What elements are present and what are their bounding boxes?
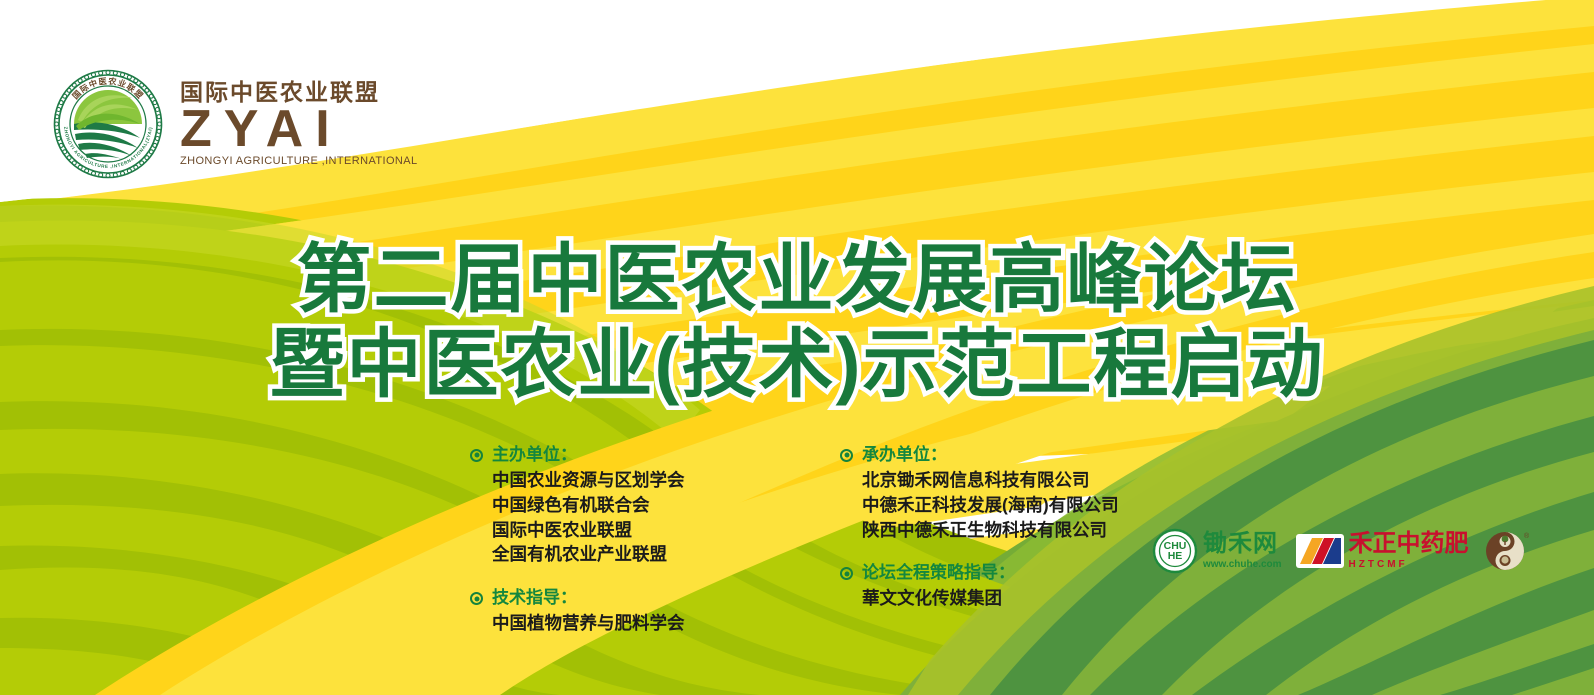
hztcmf-mark-icon: [1296, 534, 1344, 568]
info-item: 中国绿色有机联合会: [470, 493, 770, 518]
info-heading-text: 技术指导：: [492, 587, 577, 610]
logo-english-name: ZHONGYI AGRICULTURE ,INTERNATIONAL: [180, 156, 418, 167]
chuhe-name: 锄禾网: [1203, 532, 1282, 556]
hztcmf-acronym: HZTCMF: [1349, 560, 1469, 570]
info-item: 全国有机农业产业联盟: [470, 542, 770, 567]
info-item: 陕西中德禾正生物科技有限公司: [840, 518, 1140, 543]
info-column-right: 承办单位： 北京锄禾网信息科技有限公司 中德禾正科技发展(海南)有限公司 陕西中…: [840, 444, 1140, 650]
info-item: 中国植物营养与肥料学会: [470, 611, 770, 636]
organizer-info: 主办单位： 中国农业资源与区划学会 中国绿色有机联合会 国际中医农业联盟 全国有…: [470, 444, 1140, 650]
sponsor-root-emblem: ®: [1483, 528, 1529, 574]
bullet-icon: [470, 449, 483, 462]
zyai-logo-lockup: 国际中医农业联盟 ZHONGYI AGRICULTURE ,INTERNATIO…: [52, 68, 418, 180]
info-item: 国际中医农业联盟: [470, 518, 770, 543]
event-banner: 国际中医农业联盟 ZHONGYI AGRICULTURE ,INTERNATIO…: [0, 0, 1594, 695]
logo-wordmark: 国际中医农业联盟 ZYAI ZHONGYI AGRICULTURE ,INTER…: [180, 81, 418, 168]
info-group-tech-guidance: 技术指导： 中国植物营养与肥料学会: [470, 587, 770, 636]
bullet-icon: [470, 592, 483, 605]
info-group-host: 主办单位： 中国农业资源与区划学会 中国绿色有机联合会 国际中医农业联盟 全国有…: [470, 444, 770, 567]
info-heading-text: 论坛全程策略指导：: [862, 562, 1015, 585]
sponsor-chuhe: CHU HE 锄禾网 www.chuhe.com: [1152, 528, 1282, 574]
info-heading-text: 主办单位：: [492, 444, 577, 467]
info-item: 中国农业资源与区划学会: [470, 468, 770, 493]
info-heading-host: 主办单位：: [470, 444, 770, 467]
registered-mark: ®: [1524, 532, 1529, 540]
sponsor-hztcmf: 禾正中药肥 HZTCMF: [1296, 532, 1469, 570]
chuhe-url: www.chuhe.com: [1203, 560, 1282, 570]
root-emblem-icon: ®: [1483, 528, 1529, 574]
info-item: 華文文化传媒集团: [840, 586, 1140, 611]
info-heading-strategy-guidance: 论坛全程策略指导：: [840, 562, 1140, 585]
sponsor-logos: CHU HE 锄禾网 www.chuhe.com 禾正中药肥 HZTCMF: [1152, 528, 1529, 574]
info-column-left: 主办单位： 中国农业资源与区划学会 中国绿色有机联合会 国际中医农业联盟 全国有…: [470, 444, 770, 650]
info-heading-tech-guidance: 技术指导：: [470, 587, 770, 610]
info-item: 北京锄禾网信息科技有限公司: [840, 468, 1140, 493]
logo-acronym: ZYAI: [180, 106, 418, 154]
info-heading-co-organizer: 承办单位：: [840, 444, 1140, 467]
svg-text:HE: HE: [1168, 550, 1183, 562]
info-group-co-organizer: 承办单位： 北京锄禾网信息科技有限公司 中德禾正科技发展(海南)有限公司 陕西中…: [840, 444, 1140, 542]
bullet-icon: [840, 567, 853, 580]
chuhe-badge-icon: CHU HE: [1152, 528, 1198, 574]
bullet-icon: [840, 449, 853, 462]
info-item: 中德禾正科技发展(海南)有限公司: [840, 493, 1140, 518]
info-heading-text: 承办单位：: [862, 444, 947, 467]
zyai-seal-icon: 国际中医农业联盟 ZHONGYI AGRICULTURE ,INTERNATIO…: [52, 68, 164, 180]
info-group-strategy-guidance: 论坛全程策略指导： 華文文化传媒集团: [840, 562, 1140, 611]
hztcmf-name: 禾正中药肥: [1349, 532, 1469, 556]
